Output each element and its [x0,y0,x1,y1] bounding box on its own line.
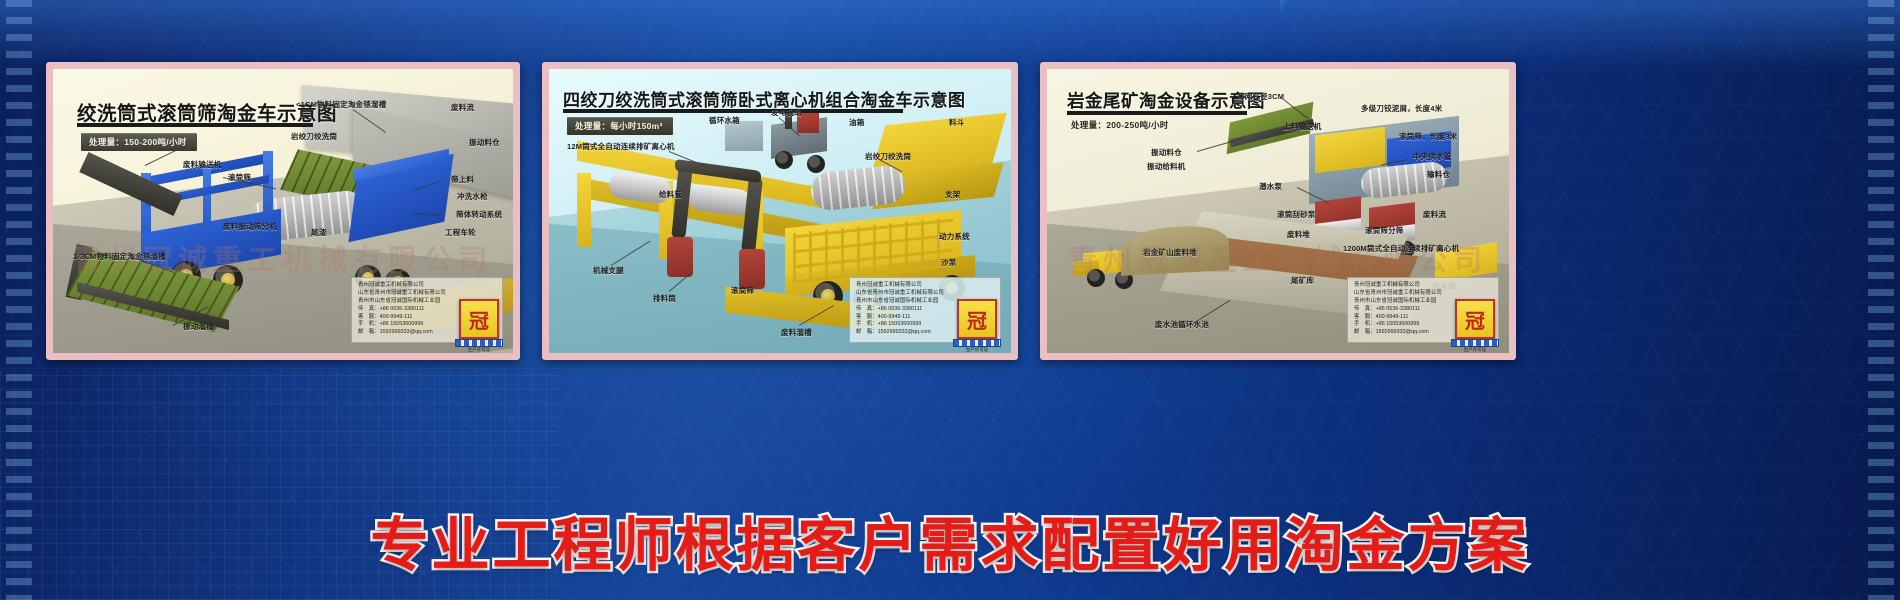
panel-3-certificate-stamp: 冠 [1455,299,1495,339]
panel-2-title-rule [563,109,903,113]
label-p2-7: 动力系统 [939,231,970,242]
label-p2-6: 支架 [945,189,960,200]
contact-mobile-label: 手 机 [856,321,872,327]
label-p3-3: 滚筒筛，长度3米 [1399,131,1457,142]
stamp-glyph: 冠 [967,305,987,334]
contact-company-2: 山东省青州市冠诚重工机械有限公司 [856,290,994,298]
stamp-caption: 生产许可证 [1451,346,1499,353]
red-drum-1 [667,237,693,277]
label-p3-0: 筛网孔径3CM [1237,91,1284,102]
stamp-caption: 生产许可证 [953,346,1001,353]
diagram-panel-row: 绞洗筒式滚筒筛淘金车示意图 处理量：150-200吨/小时 青州冠诚重工机械有限… [46,62,1516,360]
label-p2-3: 料斗 [949,117,964,128]
generator-wheel-2 [807,155,825,173]
label-p1-3: 振动料仓 [469,137,500,148]
label-p1-0: <1CM物料固定淘金毯溜槽 [296,99,386,110]
label-p1-7: 冲洗水枪 [457,191,488,202]
panel-3-title-rule [1067,111,1247,115]
label-p2-12: 沙泵 [941,257,956,268]
panel-1-title-rule [77,123,313,127]
label-p2-13: 废料溜槽 [781,327,812,338]
label-p3-9: 滚筒刮砂泵 [1277,209,1316,220]
contact-email-label: 邮 箱 [1354,329,1370,335]
label-p1-13: 振动溜槽 [183,321,214,332]
panel-3-scene: 岩金尾矿淘金设备示意图 处理量：200-250吨/小时 青州冠诚重工机械有限公司… [1047,69,1509,353]
stamp-caption: 生产许可证 [455,346,503,353]
contact-hotline-label: 客 服 [1354,314,1370,320]
stamp-glyph: 冠 [1465,305,1485,334]
contact-hotline: 400-9949-111 [1376,314,1409,320]
label-p2-2: 油箱 [849,117,864,128]
label-p2-5: 岩绞刀绞洗筒 [865,151,911,162]
contact-fax-label: 传 真 [856,306,872,312]
label-p1-5: 废料输送机 [183,159,222,170]
diagram-panel-1[interactable]: 绞洗筒式滚筒筛淘金车示意图 处理量：150-200吨/小时 青州冠诚重工机械有限… [46,62,520,360]
label-p1-2: 岩绞刀绞洗筒 [291,131,337,142]
label-p3-15: 尾矿库 [1291,275,1314,286]
contact-mobile: +86 15053600999 [380,321,424,327]
label-p3-12: 废料堆 [1287,229,1310,240]
label-p2-1: 循环水箱 [709,115,740,126]
poster-stage: 绞洗筒式滚筒筛淘金车示意图 处理量：150-200吨/小时 青州冠诚重工机械有限… [0,0,1900,600]
contact-email-label: 邮 箱 [358,329,374,335]
panel-2-capacity-badge: 处理量：每小时150m³ [567,117,673,135]
panel-1-scene: 绞洗筒式滚筒筛淘金车示意图 处理量：150-200吨/小时 青州冠诚重工机械有限… [53,69,513,353]
contact-email-label: 邮 箱 [856,329,872,335]
panel-2-certificate-stamp: 冠 [957,299,997,339]
contact-company-2: 山东省青州市冠诚重工机械有限公司 [1354,290,1492,298]
label-p1-10: 废料振动筛分机 [223,221,277,232]
label-p3-13: 1200M筒式全自动连续排矿离心机 [1343,243,1459,254]
label-p1-11: 尾渣 [311,227,326,238]
contact-company: 青州冠诚重工机械有限公司 [358,282,496,290]
stamp-glyph: 冠 [469,305,489,334]
promo-headline: 专业工程师根据客户需求配置好用淘金方案 [0,498,1900,582]
panel-3-capacity-badge: 处理量：200-250吨/小时 [1071,119,1169,131]
label-p3-4: 中央供水管 [1413,151,1452,162]
label-p3-10: 废料流 [1423,209,1446,220]
support-leg-1 [577,173,591,247]
diagram-panel-3[interactable]: 岩金尾矿淘金设备示意图 处理量：200-250吨/小时 青州冠诚重工机械有限公司… [1040,62,1516,360]
contact-fax-label: 传 真 [358,306,374,312]
contact-hotline-label: 客 服 [358,314,374,320]
diagram-panel-2[interactable]: 四绞刀绞洗筒式滚筒筛卧式离心机组合淘金车示意图 处理量：每小时150m³ 发电机… [542,62,1018,360]
label-p3-14: 岩金矿山废料堆 [1143,247,1197,258]
contact-fax: +86 0536-3380111 [380,306,425,312]
label-p3-6: 振动给料机 [1147,161,1186,172]
label-p3-1: 多级刀铰泥屑，长度4米 [1361,103,1442,114]
contact-mobile-label: 手 机 [1354,321,1370,327]
contact-fax: +86 0536-3380111 [1376,306,1421,312]
label-p3-17: 废水池循环水池 [1155,319,1209,330]
label-p1-8: 筛体转动系统 [456,209,502,220]
panel-2-title: 四绞刀绞洗筒式滚筒筛卧式离心机组合淘金车示意图 [563,86,966,111]
label-p2-9: 机械支腿 [593,265,624,276]
contact-email: 1592999333@qq.com [878,329,931,335]
contact-mobile: +86 15053600999 [1376,321,1420,327]
contact-mobile-label: 手 机 [358,321,374,327]
label-p1-6: 筛上料 [451,174,474,185]
label-p2-10: 排料筒 [653,293,676,304]
contact-company-2: 山东省青州市冠诚重工机械有限公司 [358,290,496,298]
contact-fax-label: 传 真 [1354,306,1370,312]
label-p2-11: 滚筒筛 [731,285,754,296]
label-p3-5: 振动料仓 [1151,147,1182,158]
panel-1-certificate-stamp: 冠 [459,299,499,339]
label-p3-11: 滚筒筛分筛 [1365,225,1404,236]
contact-hotline: 400-9949-111 [380,314,413,320]
top-glow-gradient [0,0,1900,70]
label-p1-9: 工程车轮 [445,227,476,238]
contact-email: 1592999333@qq.com [380,329,433,335]
contact-company: 青州冠诚重工机械有限公司 [856,282,994,290]
label-p1-12: 1-3CM物料固定淘金毯溜槽 [73,251,166,262]
label-p1-1: 废料流 [451,102,474,113]
generator-wheel-1 [775,151,793,169]
contact-email: 1592999333@qq.com [1376,329,1429,335]
label-p2-4: 12M筒式全自动连续排矿离心机 [567,141,675,152]
label-p3-2: 上料输送机 [1283,121,1322,132]
panel-2-scene: 四绞刀绞洗筒式滚筒筛卧式离心机组合淘金车示意图 处理量：每小时150m³ 发电机… [549,69,1011,353]
contact-hotline: 400-9949-111 [878,314,911,320]
contact-hotline-label: 客 服 [856,314,872,320]
contact-company: 青州冠诚重工机械有限公司 [1354,282,1492,290]
label-p2-8: 给料管 [659,189,682,200]
panel-3-title: 岩金尾矿淘金设备示意图 [1067,88,1265,113]
contact-mobile: +86 15053600999 [878,321,922,327]
red-drum-2 [739,249,765,289]
label-p3-7: 输料仓 [1427,169,1450,180]
contact-fax: +86 0536-3380111 [878,306,923,312]
loader-wheel-1 [1087,269,1105,287]
label-p3-8: 潜水泵 [1259,181,1282,192]
label-p2-0: 发电机组 [771,107,802,118]
